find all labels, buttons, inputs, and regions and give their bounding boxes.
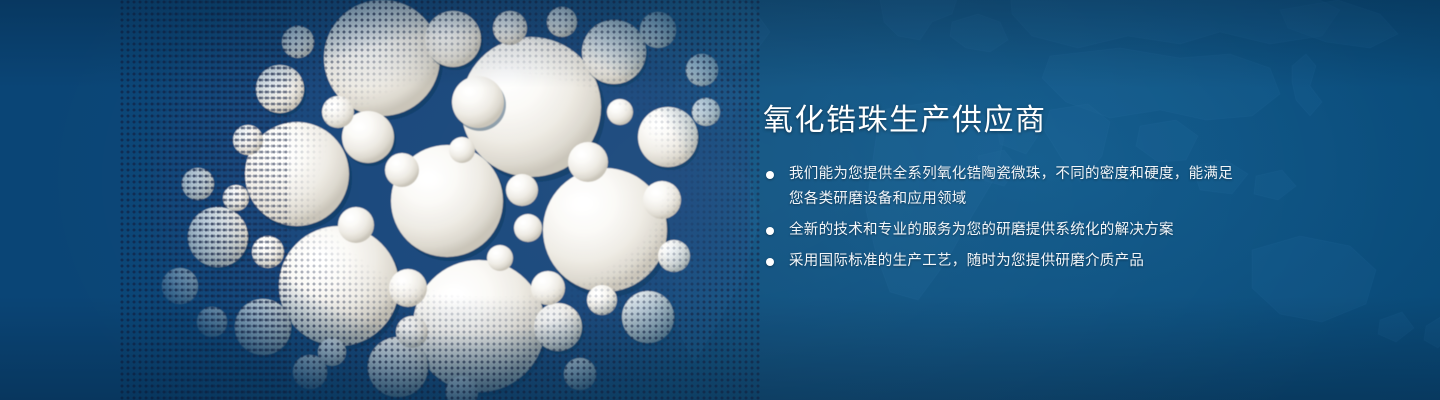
- hero-banner: 氧化锆珠生产供应商 我们能为您提供全系列氧化锆陶瓷微珠，不同的密度和硬度，能满足…: [0, 0, 1440, 400]
- list-item: 采用国际标准的生产工艺，随时为您提供研磨介质产品: [763, 249, 1233, 274]
- bullet-dot-icon: [766, 258, 774, 266]
- bullet-text: 全新的技术和专业的服务为您的研磨提供系统化的解决方案: [789, 218, 1233, 243]
- bullet-dot-icon: [766, 171, 774, 179]
- bullet-dot-icon: [766, 227, 774, 235]
- bullet-text: 我们能为您提供全系列氧化锆陶瓷微珠，不同的密度和硬度，能满足您各类研磨设备和应用…: [789, 162, 1233, 212]
- bullet-text: 采用国际标准的生产工艺，随时为您提供研磨介质产品: [789, 249, 1233, 274]
- page-title: 氧化锆珠生产供应商: [763, 104, 1233, 138]
- list-item: 我们能为您提供全系列氧化锆陶瓷微珠，不同的密度和硬度，能满足您各类研磨设备和应用…: [763, 162, 1233, 212]
- list-item: 全新的技术和专业的服务为您的研磨提供系统化的解决方案: [763, 218, 1233, 243]
- feature-bullet-list: 我们能为您提供全系列氧化锆陶瓷微珠，不同的密度和硬度，能满足您各类研磨设备和应用…: [763, 162, 1233, 274]
- banner-text-content: 氧化锆珠生产供应商 我们能为您提供全系列氧化锆陶瓷微珠，不同的密度和硬度，能满足…: [763, 104, 1233, 274]
